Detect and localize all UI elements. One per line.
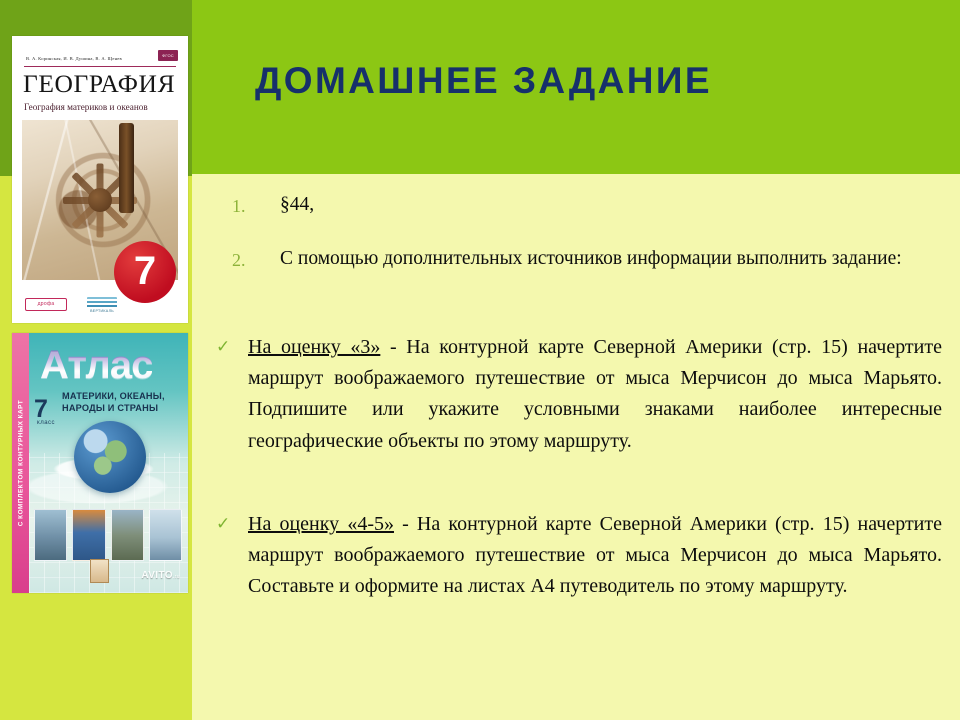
book-title: ГЕОГРАФИЯ xyxy=(23,69,175,99)
wheel-hub xyxy=(88,188,112,212)
fgos-badge: ФГОС xyxy=(158,50,178,61)
atlas-publisher-logo xyxy=(90,559,109,583)
avito-watermark-suffix: .ru xyxy=(173,574,180,580)
list-item: 1. §44, xyxy=(232,190,892,220)
avito-watermark: AVITO.ru xyxy=(141,570,180,581)
geography-textbook-cover: ФГОС В. А. Коринская, И. В. Душина, В. А… xyxy=(12,36,188,323)
atlas-grade: 7класс xyxy=(34,395,55,426)
photo-temple xyxy=(34,509,67,561)
atlas-title: Атлас xyxy=(40,343,152,388)
list-item-lead: На оценку «3» xyxy=(248,336,380,358)
atlas-grade-label: класс xyxy=(37,420,55,426)
atlas-cover: С КОМПЛЕКТОМ КОНТУРНЫХ КАРТ Атлас МАТЕРИ… xyxy=(12,333,188,593)
atlas-subtitle: МАТЕРИКИ, ОКЕАНЫ, НАРОДЫ И СТРАНЫ xyxy=(62,391,178,415)
checkmark-icon: ✓ xyxy=(216,509,248,537)
list-item-text: На оценку «4-5» - На контурной карте Сев… xyxy=(248,509,942,603)
list-item-lead: На оценку «4-5» xyxy=(248,513,394,535)
atlas-photo-strip xyxy=(34,509,182,561)
slide-canvas: ДОМАШНЕЕ ЗАДАНИЕ 1. §44, 2. С помощью до… xyxy=(0,0,960,720)
page-title: ДОМАШНЕЕ ЗАДАНИЕ xyxy=(255,60,945,103)
publisher-logo: дрофа xyxy=(25,298,67,311)
list-item-marker: 2. xyxy=(232,244,280,274)
atlas-spine-text: С КОМПЛЕКТОМ КОНТУРНЫХ КАРТ xyxy=(17,400,24,526)
photo-mountains xyxy=(111,509,144,561)
content-body: 1. §44, 2. С помощью дополнительных исто… xyxy=(192,174,960,720)
list-item-text: С помощью дополнительных источников инфо… xyxy=(280,244,912,274)
series-label: ВЕРТИКАЛЬ xyxy=(84,309,120,313)
list-item-text: §44, xyxy=(280,190,892,220)
book-authors: В. А. Коринская, И. В. Душина, В. А. Щен… xyxy=(26,56,122,61)
divider xyxy=(24,66,176,67)
atlas-spine: С КОМПЛЕКТОМ КОНТУРНЫХ КАРТ xyxy=(12,333,29,593)
photo-people xyxy=(72,509,105,561)
list-item: ✓ На оценку «3» - На контурной карте Сев… xyxy=(216,332,942,457)
checkmark-icon: ✓ xyxy=(216,332,248,360)
list-item: 2. С помощью дополнительных источников и… xyxy=(232,244,912,274)
globe-icon xyxy=(74,421,146,493)
wooden-post xyxy=(119,123,134,213)
photo-polar-bear xyxy=(149,509,182,561)
book-subtitle: География материков и океанов xyxy=(24,102,148,112)
series-bars-icon xyxy=(87,297,117,308)
list-item-text: На оценку «3» - На контурной карте Север… xyxy=(248,332,942,457)
list-item-marker: 1. xyxy=(232,190,280,220)
list-item: ✓ На оценку «4-5» - На контурной карте С… xyxy=(216,509,942,603)
atlas-grade-number: 7 xyxy=(34,395,48,423)
grade-badge: 7 xyxy=(114,241,176,303)
avito-watermark-text: AVITO xyxy=(141,570,173,581)
series-logo: ВЕРТИКАЛЬ xyxy=(84,297,120,313)
